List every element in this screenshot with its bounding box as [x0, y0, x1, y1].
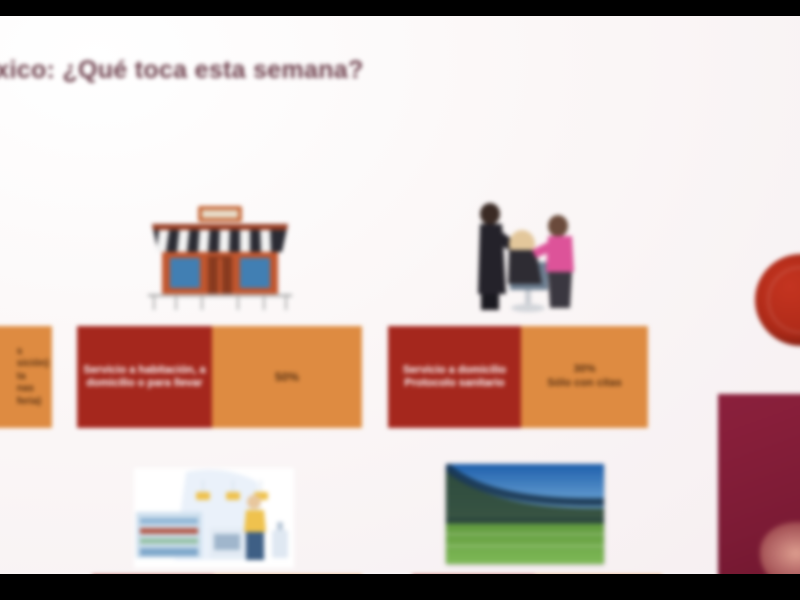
card-restaurantes-label: Servicio a habitación, a domicilio o par…: [77, 326, 212, 428]
slide-stage: México: ¿Qué toca esta semana? 20: [0, 0, 800, 600]
blur-layer: México: ¿Qué toca esta semana? 20: [0, 16, 800, 574]
card-clipped-left[interactable]: s sición) ta nas feria): [0, 326, 52, 428]
letterbox-top: [0, 0, 800, 16]
storefront-icon: [146, 204, 294, 312]
maroon-side-panel: [718, 394, 800, 574]
card-salones-belleza-label: Servicio a domicilio Protocolo sanitario: [388, 326, 521, 428]
hand-silhouette: [760, 522, 800, 574]
card-restaurantes[interactable]: Servicio a habitación, a domicilio o par…: [77, 326, 362, 428]
presentation-slide: México: ¿Qué toca esta semana? 20: [0, 16, 800, 574]
card-salones-belleza[interactable]: Servicio a domicilio Protocolo sanitario…: [388, 326, 648, 428]
card-restaurantes-value: 50%: [212, 326, 362, 428]
red-seal-circle: [755, 254, 800, 346]
page-title: México: ¿Qué toca esta semana?: [0, 56, 600, 85]
letterbox-bottom: [0, 574, 800, 600]
card-clipped-left-value: s sición) ta nas feria): [0, 326, 52, 428]
stadium-icon: [446, 464, 604, 564]
salon-icon: [462, 198, 582, 313]
hotel-icon: [134, 468, 294, 568]
card-salones-belleza-value: 30% Sólo con citas: [521, 326, 648, 428]
